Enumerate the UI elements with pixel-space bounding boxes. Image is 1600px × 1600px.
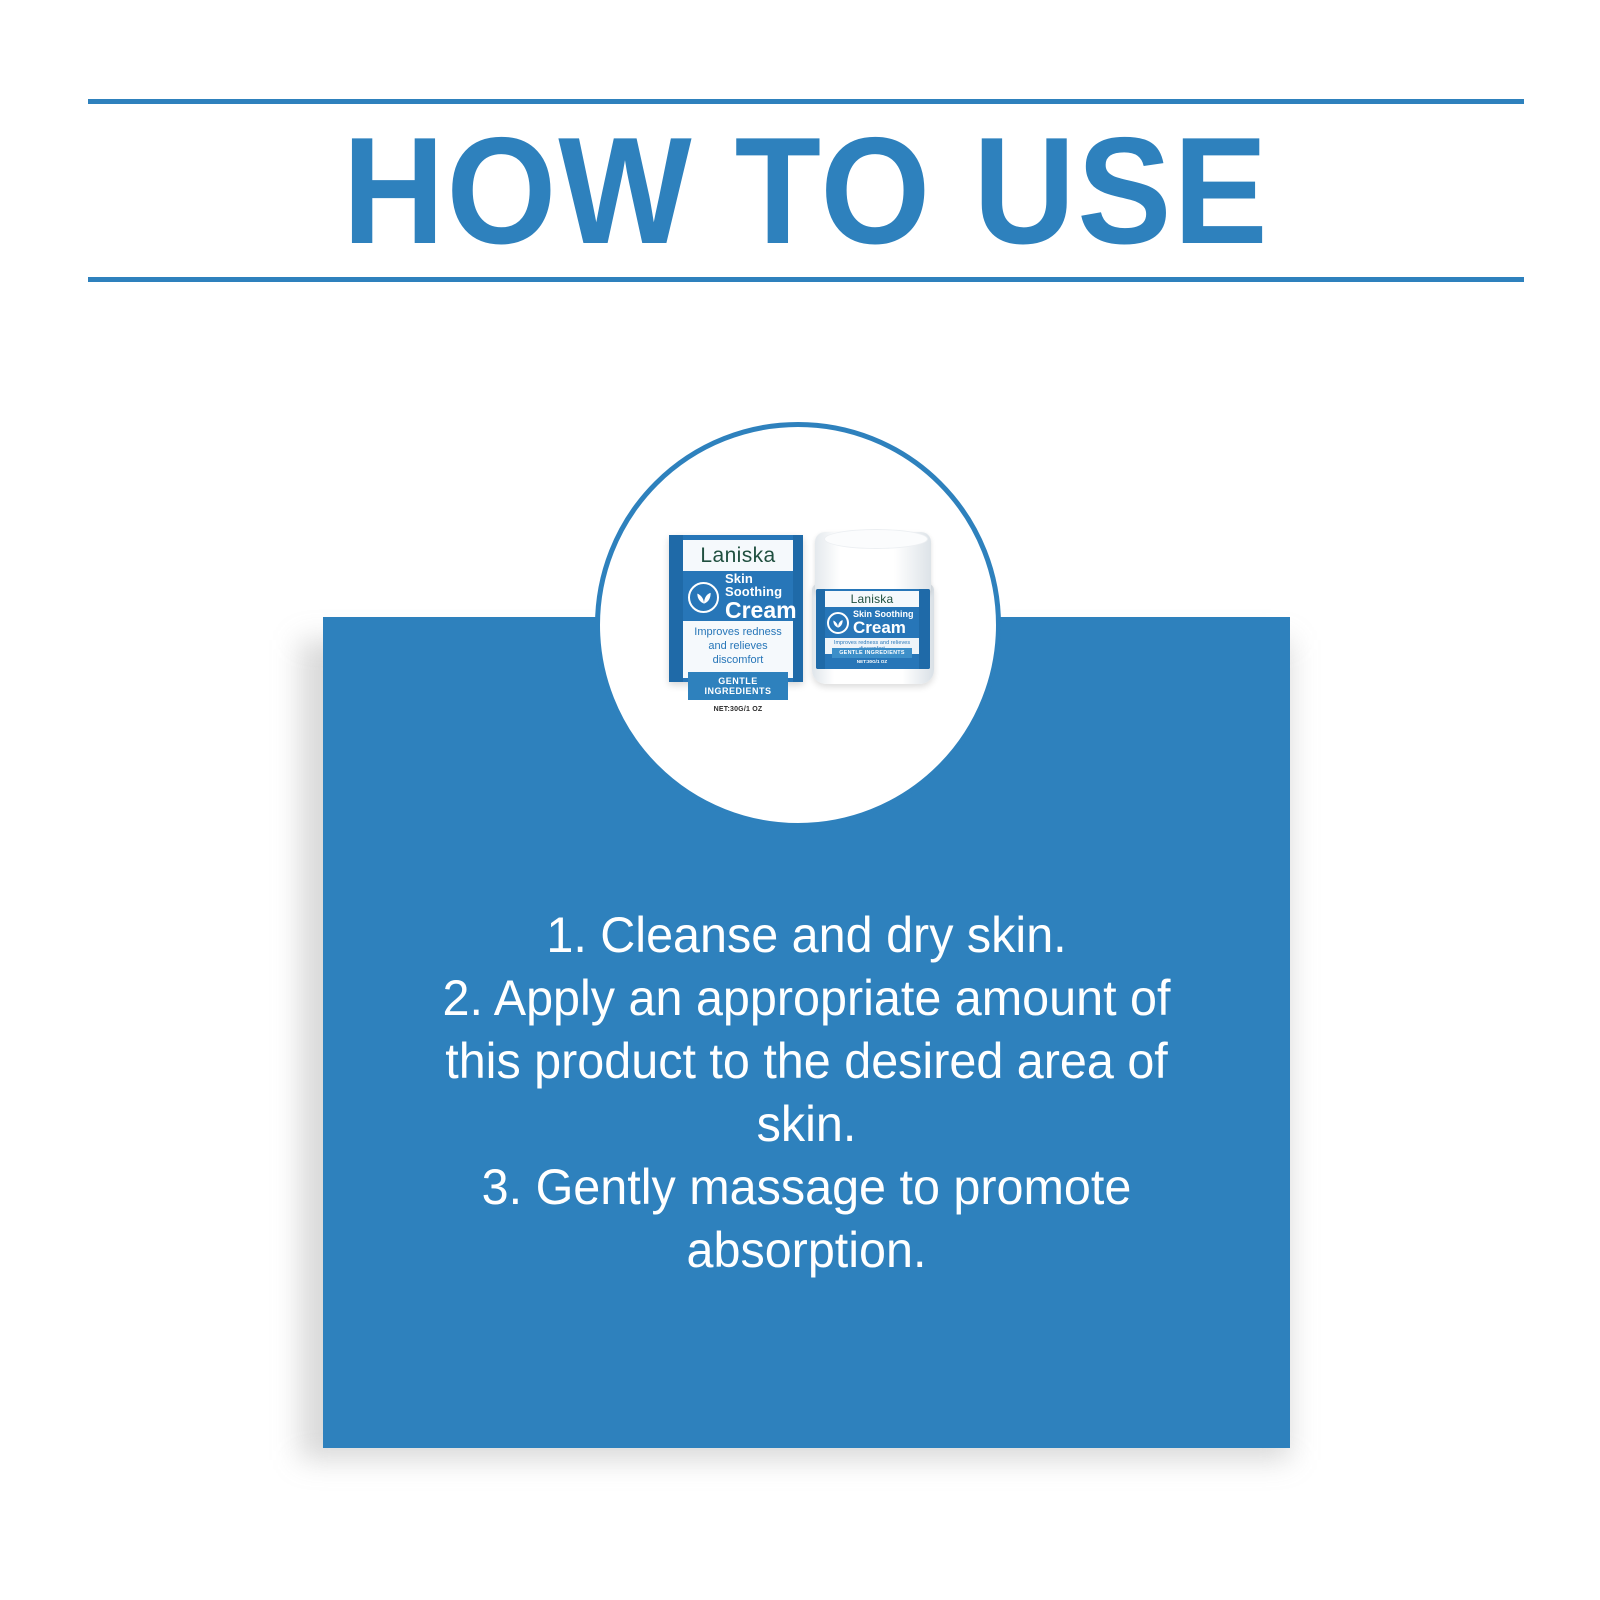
jar-brand-band: Laniska (825, 591, 919, 607)
leaf-icon (688, 582, 719, 613)
jar-lid (815, 532, 931, 594)
product-image-stage: Laniska Skin Soothing Cream Improves red… (595, 422, 1001, 828)
carton-title-row: Skin Soothing Cream (683, 575, 793, 619)
carton-title: Cream (725, 599, 797, 622)
page-title: HOW TO USE (138, 104, 1473, 277)
jar-lid-top-ellipse (824, 529, 928, 549)
product-carton: Laniska Skin Soothing Cream Improves red… (669, 535, 803, 682)
jar-label-right-edge (919, 589, 930, 669)
instruction-step-2: 2. Apply an appropriate amount of this p… (415, 967, 1198, 1156)
jar-label-left-edge (816, 589, 825, 669)
carton-brand-band: Laniska (683, 540, 793, 571)
carton-claim-text: Improves redness and relieves discomfort (686, 626, 790, 667)
jar-title: Cream (853, 619, 914, 636)
carton-subtitle: Skin Soothing (725, 572, 797, 598)
carton-claim-panel: Improves redness and relieves discomfort… (683, 621, 793, 678)
instruction-step-3: 3. Gently massage to promote absorption. (415, 1156, 1198, 1282)
jar-title-row: Skin Soothing Cream (827, 609, 919, 636)
jar-net-weight: NET:30G/1 OZ (825, 659, 919, 664)
jar-label: Laniska Skin Soothing Cream Improves re (816, 589, 930, 669)
carton-brand-name: Laniska (700, 544, 775, 568)
instruction-step-1: 1. Cleanse and dry skin. (415, 904, 1198, 967)
jar-ingredients-badge: GENTLE INGREDIENTS (832, 648, 912, 658)
carton-left-edge (669, 535, 683, 682)
carton-net-weight: NET:30G/1 OZ (714, 706, 763, 713)
header-rule-bottom (88, 277, 1524, 282)
carton-ingredients-badge: GENTLE INGREDIENTS (688, 672, 788, 700)
infographic-page: HOW TO USE 1. Cleanse and dry skin. 2. A… (0, 0, 1600, 1600)
jar-brand-name: Laniska (851, 592, 894, 606)
leaf-icon (827, 612, 849, 634)
product-jar: Laniska Skin Soothing Cream Improves re (812, 532, 934, 684)
